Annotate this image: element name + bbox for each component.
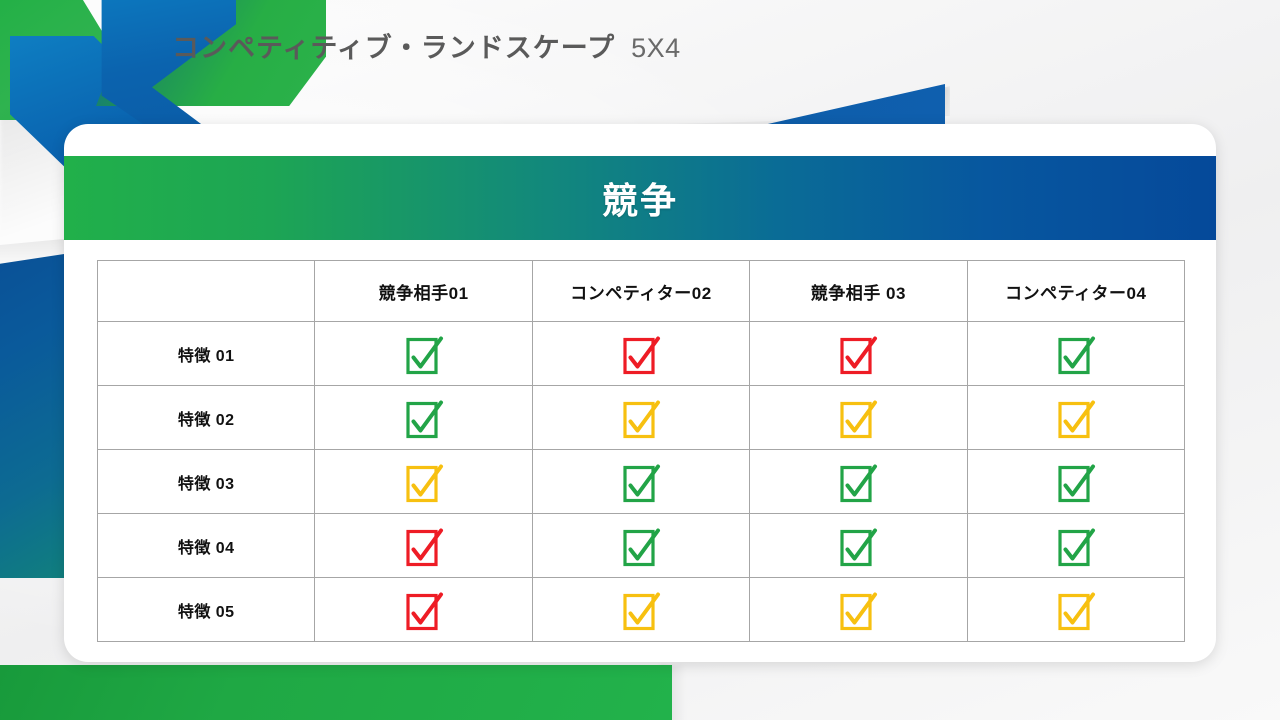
comparison-table: 競争相手01 コンペティター02 競争相手 03 コンペティター04 特徴 01… <box>97 260 1185 642</box>
matrix-cell[interactable] <box>315 514 532 578</box>
table-row: 特徴 02 <box>98 386 1185 450</box>
matrix-cell[interactable] <box>532 450 749 514</box>
table-row: 特徴 03 <box>98 450 1185 514</box>
column-header-3: 競争相手 03 <box>750 261 967 322</box>
checkbox-checked-icon[interactable] <box>618 395 664 441</box>
table-row: 特徴 01 <box>98 322 1185 386</box>
column-header-4: コンペティター04 <box>967 261 1184 322</box>
page-title-suffix: 5X4 <box>631 33 681 63</box>
row-label-cell: 特徴 04 <box>98 514 315 578</box>
comparison-table-wrapper: 競争相手01 コンペティター02 競争相手 03 コンペティター04 特徴 01… <box>97 260 1185 642</box>
matrix-cell[interactable] <box>967 322 1184 386</box>
checkbox-checked-icon[interactable] <box>618 587 664 633</box>
row-label: 特徴 03 <box>178 476 235 493</box>
row-label-cell: 特徴 01 <box>98 322 315 386</box>
matrix-cell[interactable] <box>750 578 967 642</box>
table-row: 特徴 04 <box>98 514 1185 578</box>
checkbox-checked-icon[interactable] <box>1053 523 1099 569</box>
matrix-cell[interactable] <box>750 450 967 514</box>
checkbox-checked-icon[interactable] <box>1053 395 1099 441</box>
matrix-cell[interactable] <box>967 514 1184 578</box>
checkbox-checked-icon[interactable] <box>401 395 447 441</box>
row-label: 特徴 05 <box>178 604 235 621</box>
page-title-main: コンペティティブ・ランドスケープ <box>172 33 615 63</box>
table-corner-header <box>98 261 315 322</box>
bottom-left-green-bar-icon <box>0 665 672 720</box>
checkbox-checked-icon[interactable] <box>835 395 881 441</box>
section-banner: 競争 <box>64 156 1216 240</box>
checkbox-checked-icon[interactable] <box>618 523 664 569</box>
checkbox-checked-icon[interactable] <box>401 587 447 633</box>
matrix-cell[interactable] <box>315 450 532 514</box>
checkbox-checked-icon[interactable] <box>618 331 664 377</box>
section-banner-title: 競争 <box>602 172 678 224</box>
checkbox-checked-icon[interactable] <box>401 459 447 505</box>
checkbox-checked-icon[interactable] <box>1053 459 1099 505</box>
matrix-cell[interactable] <box>750 514 967 578</box>
row-label: 特徴 01 <box>178 348 235 365</box>
matrix-cell[interactable] <box>532 322 749 386</box>
checkbox-checked-icon[interactable] <box>835 523 881 569</box>
page-title: コンペティティブ・ランドスケープ 5X4 <box>172 26 681 65</box>
checkbox-checked-icon[interactable] <box>835 587 881 633</box>
row-label-cell: 特徴 03 <box>98 450 315 514</box>
row-label: 特徴 02 <box>178 412 235 429</box>
matrix-cell[interactable] <box>315 578 532 642</box>
matrix-cell[interactable] <box>967 578 1184 642</box>
matrix-cell[interactable] <box>315 322 532 386</box>
content-card: 競争 競争相手01 コンペティター02 競争相手 03 コンペティター04 <box>64 124 1216 662</box>
matrix-cell[interactable] <box>967 386 1184 450</box>
checkbox-checked-icon[interactable] <box>1053 331 1099 377</box>
table-body: 特徴 01特徴 02特徴 03特徴 04特徴 05 <box>98 322 1185 642</box>
checkbox-checked-icon[interactable] <box>1053 587 1099 633</box>
matrix-cell[interactable] <box>532 386 749 450</box>
checkbox-checked-icon[interactable] <box>835 459 881 505</box>
checkbox-checked-icon[interactable] <box>835 331 881 377</box>
matrix-cell[interactable] <box>750 386 967 450</box>
row-label: 特徴 04 <box>178 540 235 557</box>
matrix-cell[interactable] <box>315 386 532 450</box>
matrix-cell[interactable] <box>532 578 749 642</box>
matrix-cell[interactable] <box>750 322 967 386</box>
checkbox-checked-icon[interactable] <box>618 459 664 505</box>
row-label-cell: 特徴 05 <box>98 578 315 642</box>
column-header-1: 競争相手01 <box>315 261 532 322</box>
row-label-cell: 特徴 02 <box>98 386 315 450</box>
column-header-2: コンペティター02 <box>532 261 749 322</box>
slide-canvas: コンペティティブ・ランドスケープ 5X4 競争 競争相手01 コンペティター02… <box>0 0 1280 720</box>
checkbox-checked-icon[interactable] <box>401 523 447 569</box>
checkbox-checked-icon[interactable] <box>401 331 447 377</box>
matrix-cell[interactable] <box>532 514 749 578</box>
matrix-cell[interactable] <box>967 450 1184 514</box>
table-row: 特徴 05 <box>98 578 1185 642</box>
table-header-row: 競争相手01 コンペティター02 競争相手 03 コンペティター04 <box>98 261 1185 322</box>
